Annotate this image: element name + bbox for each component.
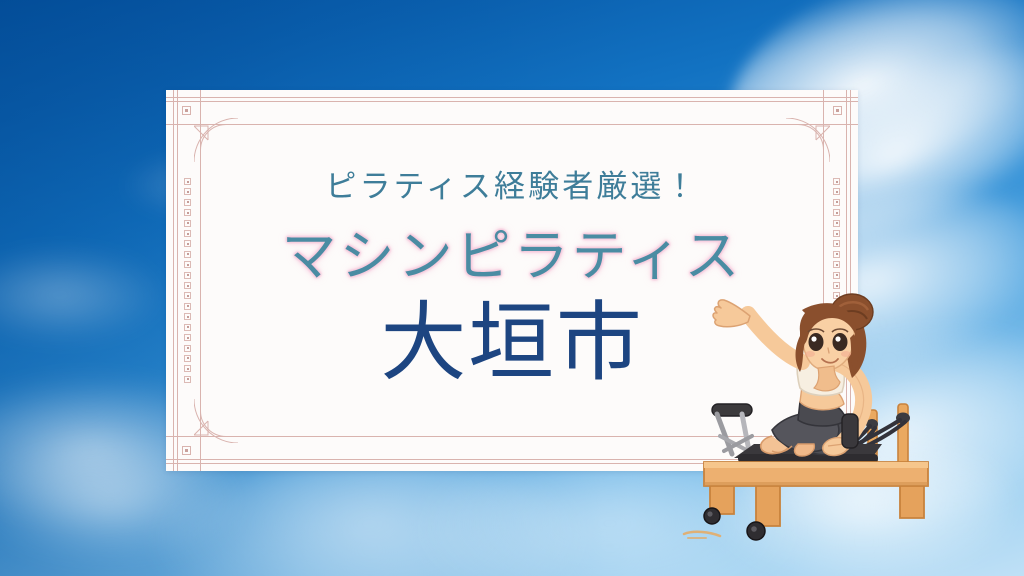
corner-dot-top-right-icon: [833, 106, 842, 115]
corner-dot-top-left-icon: [182, 106, 191, 115]
banner-canvas: ピラティス経験者厳選！ マシンピラティス 大垣市: [0, 0, 1024, 576]
frame-line-top-outer: [166, 97, 858, 98]
banner-subtitle: ピラティス経験者厳選！: [325, 172, 698, 203]
frame-line-left-mid: [177, 90, 178, 471]
frame-dot-ribbon-left: [184, 178, 191, 383]
banner-city-name: 大垣市: [380, 298, 643, 388]
frame-line-top-mid: [166, 101, 858, 102]
banner-headline: マシンピラティス: [282, 229, 743, 284]
corner-dot-bottom-left-icon: [182, 446, 191, 455]
frame-line-left-outer: [173, 90, 174, 471]
pilates-reformer-illustration: [676, 286, 948, 544]
